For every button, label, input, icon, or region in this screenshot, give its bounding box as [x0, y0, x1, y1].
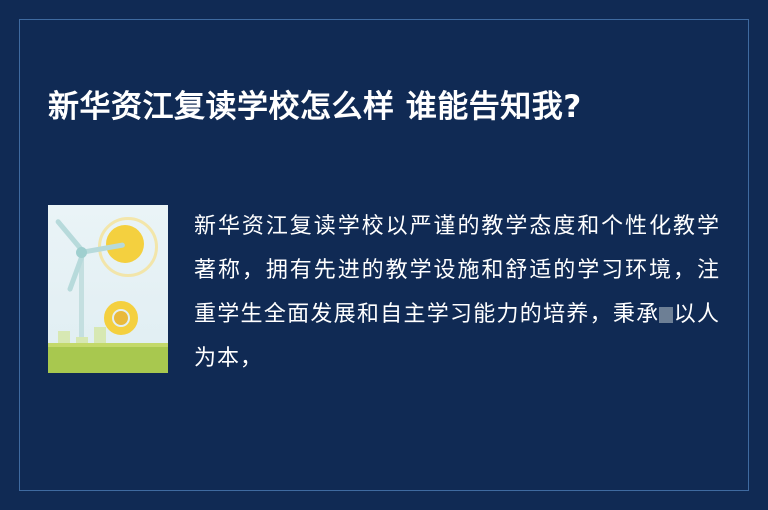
article-card: 新华资江复读学校怎么样 谁能告知我? 新华资江复读学校以严谨的教学态度和个性化教…: [0, 0, 768, 510]
windmill-hub-icon: [76, 247, 87, 258]
redaction-block: [659, 307, 673, 323]
ground-shape: [48, 347, 168, 373]
article-body-part-1: 新华资江复读学校以严谨的教学态度和个性化教学著称，拥有先进的教学设施和舒适的学习…: [194, 214, 720, 327]
article-content: 新华资江复读学校以严谨的教学态度和个性化教学著称，拥有先进的教学设施和舒适的学习…: [48, 205, 720, 381]
article-body: 新华资江复读学校以严谨的教学态度和个性化教学著称，拥有先进的教学设施和舒适的学习…: [194, 205, 720, 381]
page-title: 新华资江复读学校怎么样 谁能告知我?: [48, 83, 688, 132]
article-thumbnail: [48, 205, 168, 373]
coil-center-icon: [114, 311, 128, 325]
